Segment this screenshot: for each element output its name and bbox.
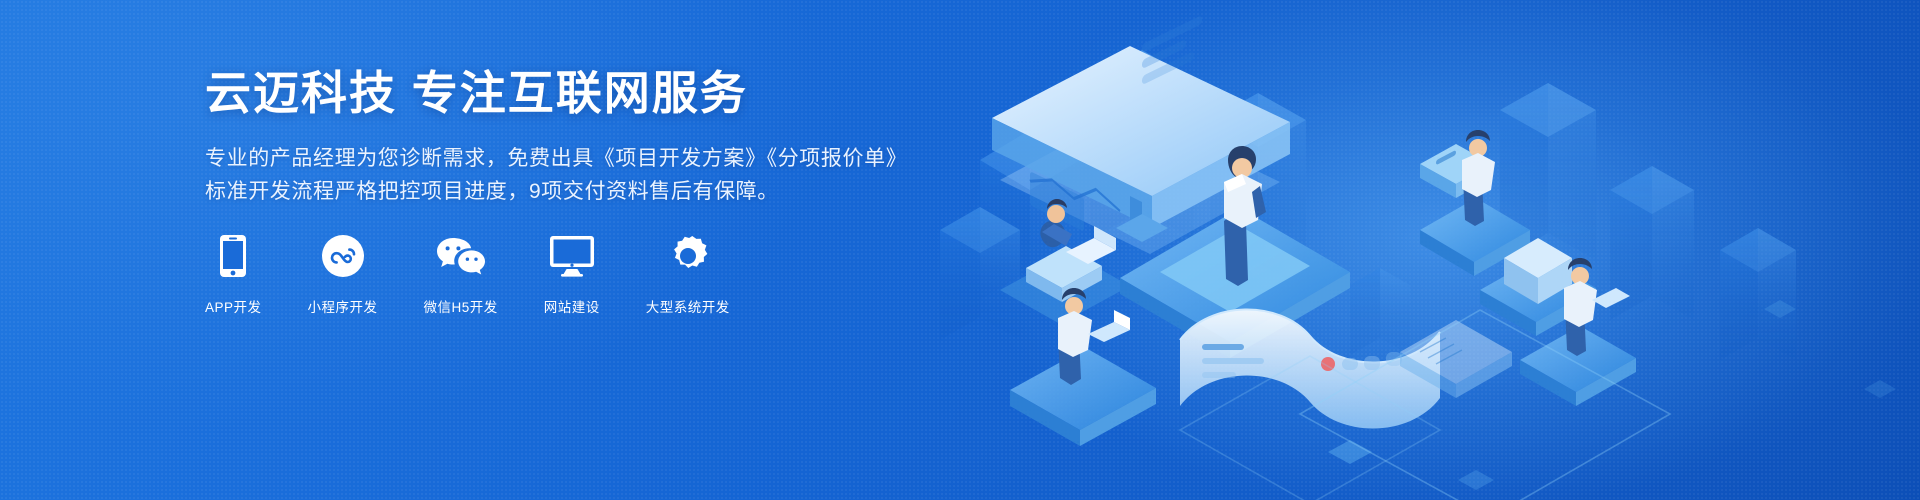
subtitle-line-1: 专业的产品经理为您诊断需求，免费出具《项目开发方案》《分项报价单》	[205, 142, 905, 175]
service-label: APP开发	[205, 296, 262, 316]
promo-banner: 云迈科技 专注互联网服务 专业的产品经理为您诊断需求，免费出具《项目开发方案》《…	[0, 0, 1920, 500]
monitor-icon	[549, 232, 595, 280]
service-label: 小程序开发	[308, 296, 378, 316]
person-lower-left	[1010, 288, 1156, 446]
subtitle-line-2: 标准开发流程严格把控项目进度，9项交付资料售后有保障。	[205, 175, 905, 208]
mini-program-icon	[321, 232, 365, 280]
service-item-app[interactable]: APP开发	[205, 232, 262, 316]
banner-copy: 云迈科技 专注互联网服务 专业的产品经理为您诊断需求，免费出具《项目开发方案》《…	[205, 68, 905, 208]
service-label: 微信H5开发	[424, 296, 498, 316]
service-list: APP开发 小程序开发	[205, 232, 730, 316]
hero-illustration	[880, 0, 1920, 500]
wechat-icon	[435, 232, 487, 280]
service-item-large-system[interactable]: 大型系统开发	[646, 232, 730, 316]
service-item-miniprogram[interactable]: 小程序开发	[308, 232, 378, 316]
mobile-phone-icon	[219, 232, 247, 280]
service-label: 网站建设	[544, 296, 600, 316]
service-item-website[interactable]: 网站建设	[544, 232, 600, 316]
page-title: 云迈科技 专注互联网服务	[205, 68, 905, 120]
gear-icon	[666, 232, 710, 280]
service-label: 大型系统开发	[646, 296, 730, 316]
service-item-wechat-h5[interactable]: 微信H5开发	[424, 232, 498, 316]
